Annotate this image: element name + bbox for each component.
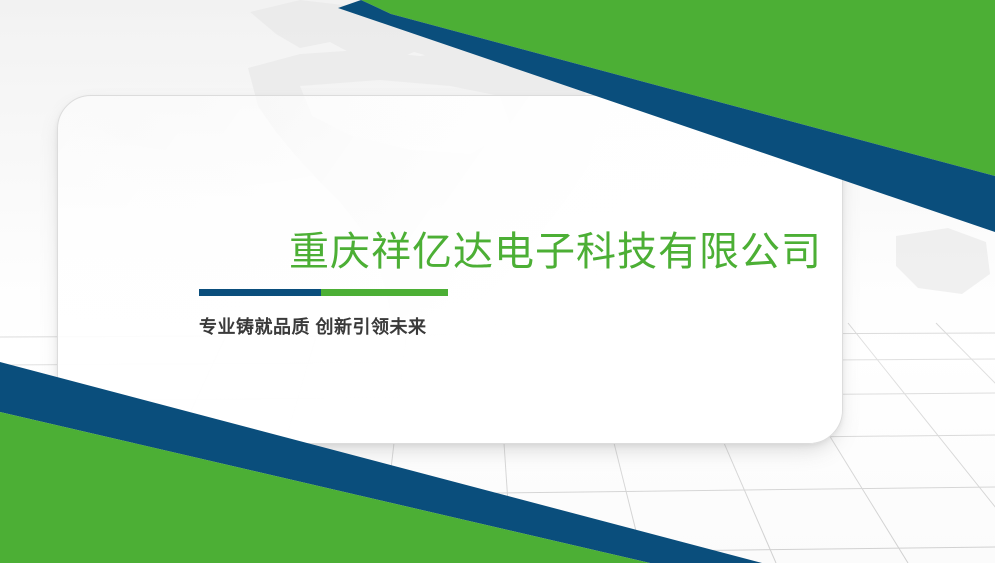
title-divider [199, 289, 448, 296]
page-subtitle: 专业铸就品质 创新引领未来 [199, 313, 839, 339]
title-slide: 重庆祥亿达电子科技有限公司 专业铸就品质 创新引领未来 [0, 0, 995, 563]
divider-segment-green [321, 289, 448, 296]
page-title: 重庆祥亿达电子科技有限公司 [199, 228, 839, 277]
divider-segment-navy [199, 289, 321, 296]
title-text-block: 重庆祥亿达电子科技有限公司 专业铸就品质 创新引领未来 [199, 228, 839, 339]
